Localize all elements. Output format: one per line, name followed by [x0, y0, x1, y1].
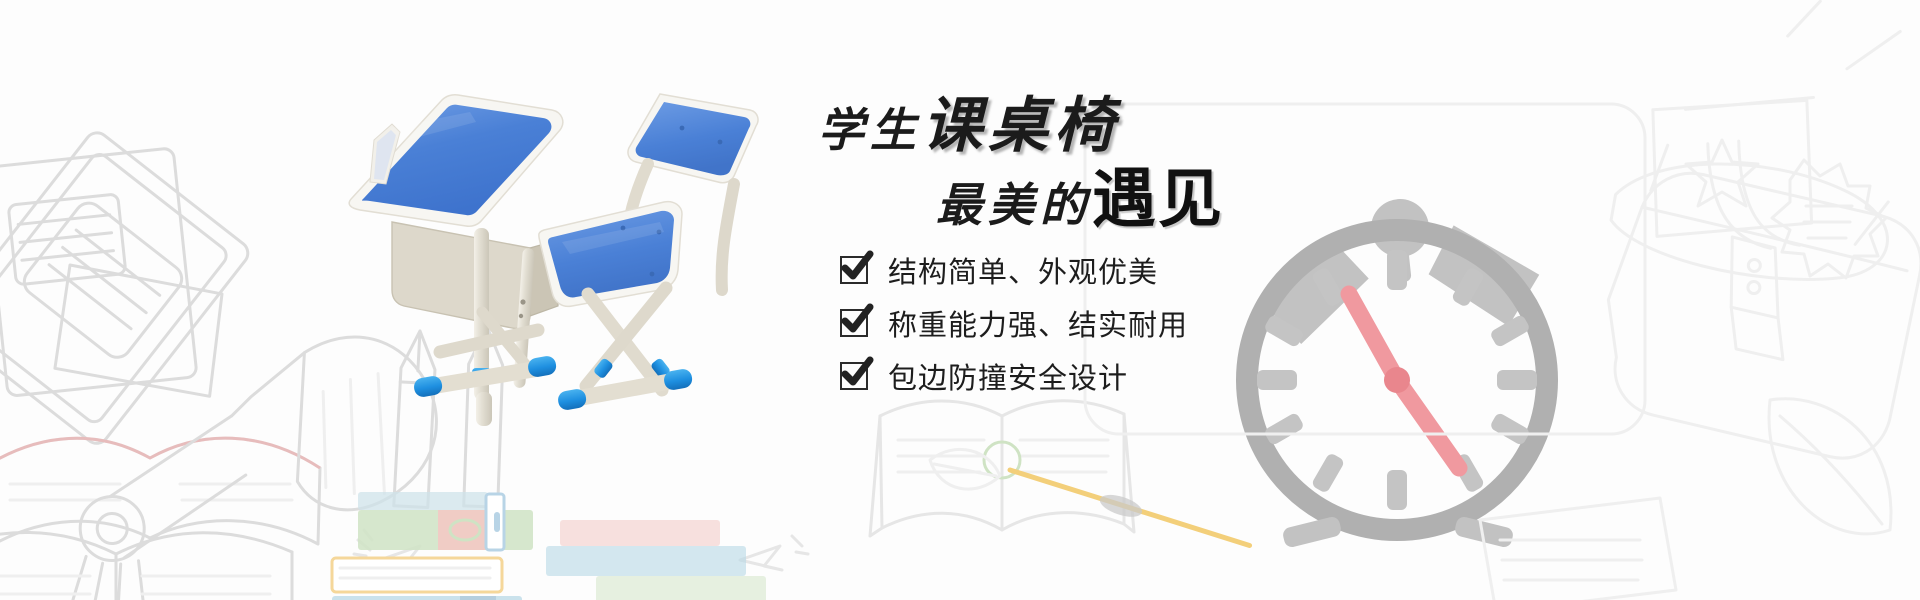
headline-line-2-prefix: 最美的	[936, 180, 1092, 231]
feature-label: 包边防撞安全设计	[888, 355, 1128, 397]
copy-block: 学生课桌椅 最美的遇见 结构简单、外观优美 称重能力强	[818, 96, 1518, 416]
feature-label: 称重能力强、结实耐用	[888, 302, 1188, 344]
stacked-books-doodle	[546, 520, 766, 600]
headline-line-1-emphasis: 课桌椅	[922, 93, 1120, 159]
feature-item: 称重能力强、结实耐用	[840, 301, 1188, 345]
open-book-doodle	[870, 401, 1134, 536]
satchel-doodle	[1598, 128, 1920, 474]
paper-plane-doodle	[354, 530, 422, 570]
open-book-doodle	[0, 438, 320, 550]
leaf-doodle	[1769, 399, 1891, 534]
checkbox-checked-icon	[840, 362, 868, 390]
checkbox-checked-icon	[840, 309, 868, 337]
badge-doodle	[1772, 160, 1886, 278]
backpack-doodle	[1606, 0, 1920, 298]
feature-item: 包边防撞安全设计	[840, 354, 1188, 398]
notebook-doodle	[0, 148, 197, 397]
feature-list: 结构简单、外观优美 称重能力强、结实耐用 包边防撞安全设计	[840, 248, 1188, 407]
pencil-doodle	[1005, 470, 1255, 545]
headline-line-2: 最美的遇见	[936, 168, 1224, 232]
paper-plane-doodle	[740, 536, 808, 570]
leaf-doodle	[930, 449, 1000, 489]
feature-item: 结构简单、外观优美	[840, 248, 1188, 292]
headline-line-1: 学生课桌椅	[818, 96, 1120, 156]
headline-line-2-emphasis: 遇见	[1092, 163, 1224, 237]
star-doodle	[1686, 140, 1758, 206]
paper-doodle	[1480, 498, 1676, 600]
checkbox-checked-icon	[840, 256, 868, 284]
notebook-doodle	[0, 128, 253, 448]
stacked-books-doodle	[332, 492, 533, 600]
feature-label: 结构简单、外观优美	[888, 249, 1158, 291]
product-image-desk-and-chair	[330, 80, 790, 440]
promo-banner: .ln { fill:none; stroke:#dcdcdc; stroke-…	[0, 0, 1920, 600]
open-book-doodle	[0, 532, 292, 600]
headline-line-1-prefix: 学生	[818, 105, 922, 156]
notebook-doodle	[28, 231, 251, 433]
